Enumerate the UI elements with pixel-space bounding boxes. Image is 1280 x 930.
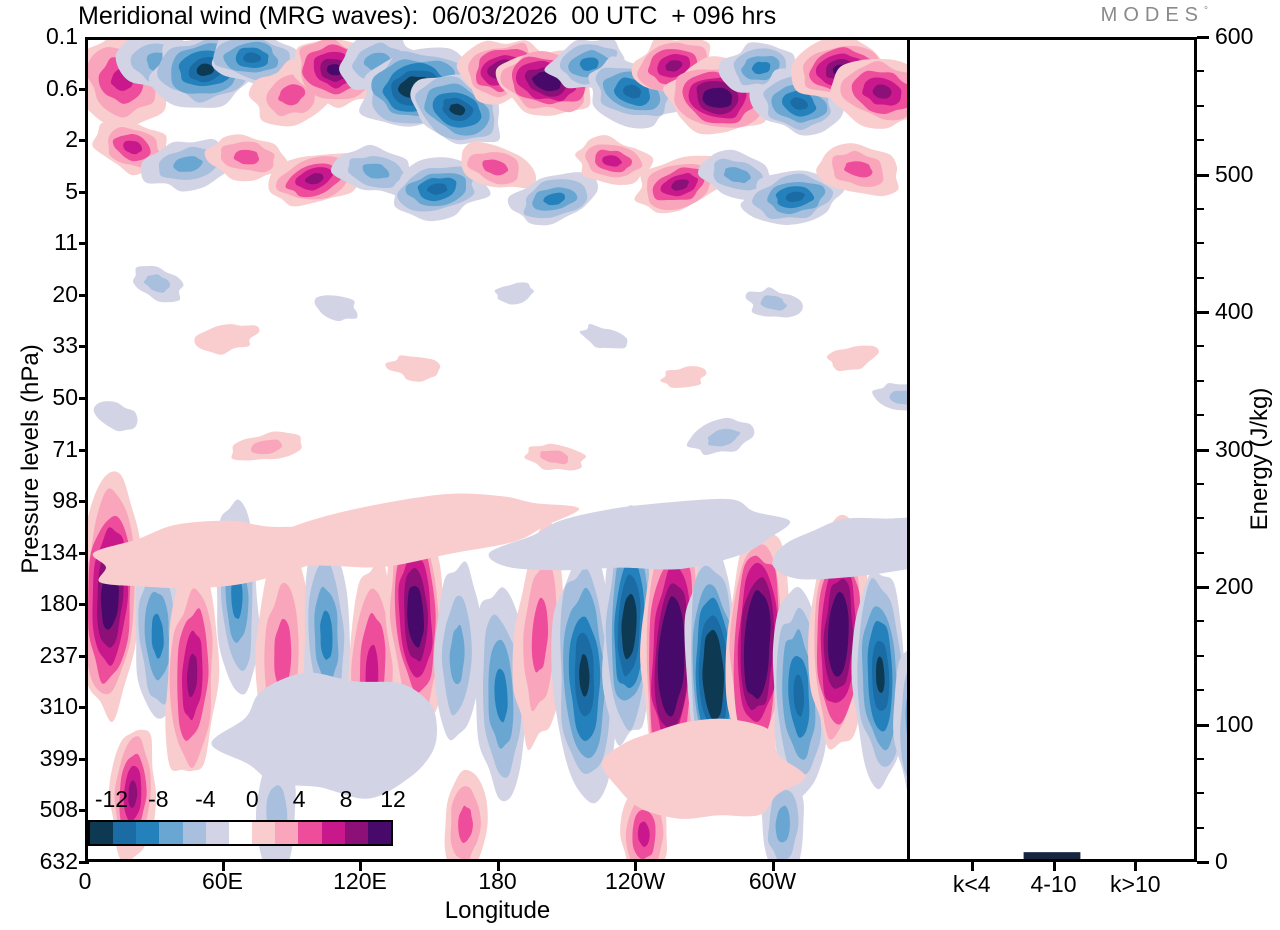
energy-tick-major: [1197, 36, 1209, 39]
contour-band: [580, 324, 628, 348]
positive-contour-cell: [385, 355, 440, 381]
positive-contour-cell: [524, 444, 586, 471]
energy-tick-minor: [1197, 483, 1204, 485]
y-tick-label-180: 180: [4, 592, 78, 615]
energy-tick-minor: [1197, 380, 1204, 382]
x-tick-label-60E: 60E: [202, 868, 243, 894]
energy-tick-minor: [1197, 655, 1204, 657]
energy-bars: [910, 40, 1194, 859]
colorbar-swatch-6: [229, 822, 252, 844]
contour-band: [495, 282, 534, 304]
x-tick-label-0: 0: [79, 868, 92, 894]
colorbar-swatch-9: [298, 822, 321, 844]
positive-contour-cell: [194, 324, 259, 355]
colorbar-swatch-4: [183, 822, 206, 844]
energy-tick-major: [1197, 724, 1209, 727]
contour-band: [385, 355, 440, 381]
logo-text: MODES: [1101, 4, 1204, 26]
energy-bar-4-10: [1024, 852, 1081, 859]
x-tick-label-60W: 60W: [749, 868, 796, 894]
y-tick-label-134: 134: [4, 541, 78, 564]
energy-tick-major: [1197, 449, 1209, 452]
colorbar-swatch-3: [159, 822, 182, 844]
colorbar-swatch-2: [136, 822, 159, 844]
energy-axis-ticks: 0100200300400500600: [1197, 0, 1280, 930]
y-axis-tick-labels: 0.10.62511203350719813418023731039950863…: [0, 0, 78, 930]
contour-band: [660, 366, 706, 388]
energy-tick-minor: [1197, 105, 1204, 107]
energy-bar-tick: [1134, 862, 1137, 871]
y-tick-label-0.1: 0.1: [4, 25, 78, 48]
energy-bar-tick: [971, 862, 974, 871]
contour-field: [88, 40, 907, 859]
energy-tick-minor: [1197, 517, 1204, 519]
energy-tick-minor: [1197, 345, 1204, 347]
colorbar-label-4: 4: [293, 786, 306, 812]
colorbar-swatch-8: [275, 822, 298, 844]
modes-logo: MODES°: [1101, 4, 1208, 27]
colorbar-swatch-12: [368, 822, 391, 844]
energy-tick-minor: [1197, 792, 1204, 794]
energy-tick-label-600: 600: [1215, 25, 1253, 48]
colorbar-swatch-10: [322, 822, 345, 844]
x-tick-label-120E: 120E: [333, 868, 387, 894]
negative-contour-cell: [580, 324, 628, 348]
energy-tick-minor: [1197, 758, 1204, 760]
contour-band: [94, 401, 138, 431]
colorbar-swatch-0: [90, 822, 113, 844]
colorbar-label--4: -4: [195, 786, 215, 812]
energy-tick-label-400: 400: [1215, 300, 1253, 323]
colorbar-label-0: 0: [246, 786, 259, 812]
energy-tick-minor: [1197, 414, 1204, 416]
positive-contour-cell: [231, 432, 301, 461]
y-tick-label-237: 237: [4, 644, 78, 667]
negative-contour-cell: [872, 383, 907, 411]
contour-band: [194, 324, 259, 355]
x-tick-label-120W: 120W: [605, 868, 665, 894]
positive-contour-cell: [88, 471, 142, 722]
y-tick-label-310: 310: [4, 695, 78, 718]
y-tick-label-508: 508: [4, 798, 78, 821]
y-tick-label-71: 71: [4, 438, 78, 461]
negative-contour-cell: [746, 287, 803, 317]
colorbar-tick-labels: -12-8-404812: [88, 786, 393, 814]
energy-tick-minor: [1197, 552, 1204, 554]
energy-bar-label-k<4: k<4: [953, 871, 991, 897]
contour-band: [772, 516, 907, 580]
energy-bar-panel: [910, 37, 1197, 862]
y-tick-label-11: 11: [4, 231, 78, 254]
positive-contour-cell: [827, 346, 879, 371]
negative-contour-cell: [687, 418, 755, 455]
energy-tick-label-300: 300: [1215, 438, 1253, 461]
y-tick-label-50: 50: [4, 386, 78, 409]
negative-contour-cell: [495, 282, 534, 304]
energy-tick-minor: [1197, 242, 1204, 244]
colorbar-swatch-11: [345, 822, 368, 844]
energy-tick-minor: [1197, 208, 1204, 210]
positive-contour-cell: [445, 770, 488, 859]
colorbar-label--8: -8: [148, 786, 168, 812]
energy-bar-label-4-10: 4-10: [1030, 871, 1076, 897]
y-tick-label-5: 5: [4, 180, 78, 203]
energy-tick-minor: [1197, 139, 1204, 141]
x-tick-mark: [497, 862, 500, 871]
energy-tick-label-200: 200: [1215, 575, 1253, 598]
y-tick-label-2: 2: [4, 128, 78, 151]
positive-contour-cell: [830, 59, 907, 129]
x-tick-mark: [634, 862, 637, 871]
negative-contour-cell: [772, 516, 907, 580]
contour-band: [315, 295, 358, 321]
energy-tick-label-500: 500: [1215, 163, 1253, 186]
y-tick-label-20: 20: [4, 283, 78, 306]
colorbar-swatch-5: [206, 822, 229, 844]
energy-tick-minor: [1197, 277, 1204, 279]
x-tick-mark: [772, 862, 775, 871]
energy-tick-minor: [1197, 689, 1204, 691]
energy-tick-minor: [1197, 70, 1204, 72]
energy-tick-minor: [1197, 827, 1204, 829]
energy-bar-label-k>10: k>10: [1110, 871, 1161, 897]
x-tick-mark: [359, 862, 362, 871]
colorbar-swatch-1: [113, 822, 136, 844]
positive-contour-cell: [660, 366, 706, 388]
figure-root: Meridional wind (MRG waves): 06/03/2026 …: [0, 0, 1280, 930]
colorbar-label-12: 12: [380, 786, 406, 812]
y-tick-label-0.6: 0.6: [4, 77, 78, 100]
negative-contour-cell: [94, 401, 138, 431]
y-tick-label-98: 98: [4, 489, 78, 512]
energy-tick-label-0: 0: [1215, 850, 1228, 873]
x-tick-mark: [222, 862, 225, 871]
energy-tick-major: [1197, 311, 1209, 314]
colorbar-swatch-7: [252, 822, 275, 844]
page-title: Meridional wind (MRG waves): 06/03/2026 …: [78, 0, 776, 32]
energy-tick-major: [1197, 174, 1209, 177]
colorbar-label-8: 8: [340, 786, 353, 812]
y-tick-label-33: 33: [4, 334, 78, 357]
contour-plot-panel: [85, 37, 910, 862]
energy-bar-tick: [1053, 862, 1056, 871]
negative-contour-cell: [315, 295, 358, 321]
x-axis-tick-labels: 060E120E180120W60W: [0, 868, 1280, 902]
contour-band: [827, 346, 879, 371]
colorbar: [88, 820, 393, 846]
energy-tick-major: [1197, 586, 1209, 589]
energy-tick-minor: [1197, 620, 1204, 622]
negative-contour-cell: [133, 266, 184, 302]
y-tick-label-399: 399: [4, 747, 78, 770]
colorbar-label--12: -12: [95, 786, 128, 812]
energy-tick-major: [1197, 861, 1209, 864]
energy-tick-label-100: 100: [1215, 713, 1253, 736]
x-tick-label-180: 180: [478, 868, 516, 894]
